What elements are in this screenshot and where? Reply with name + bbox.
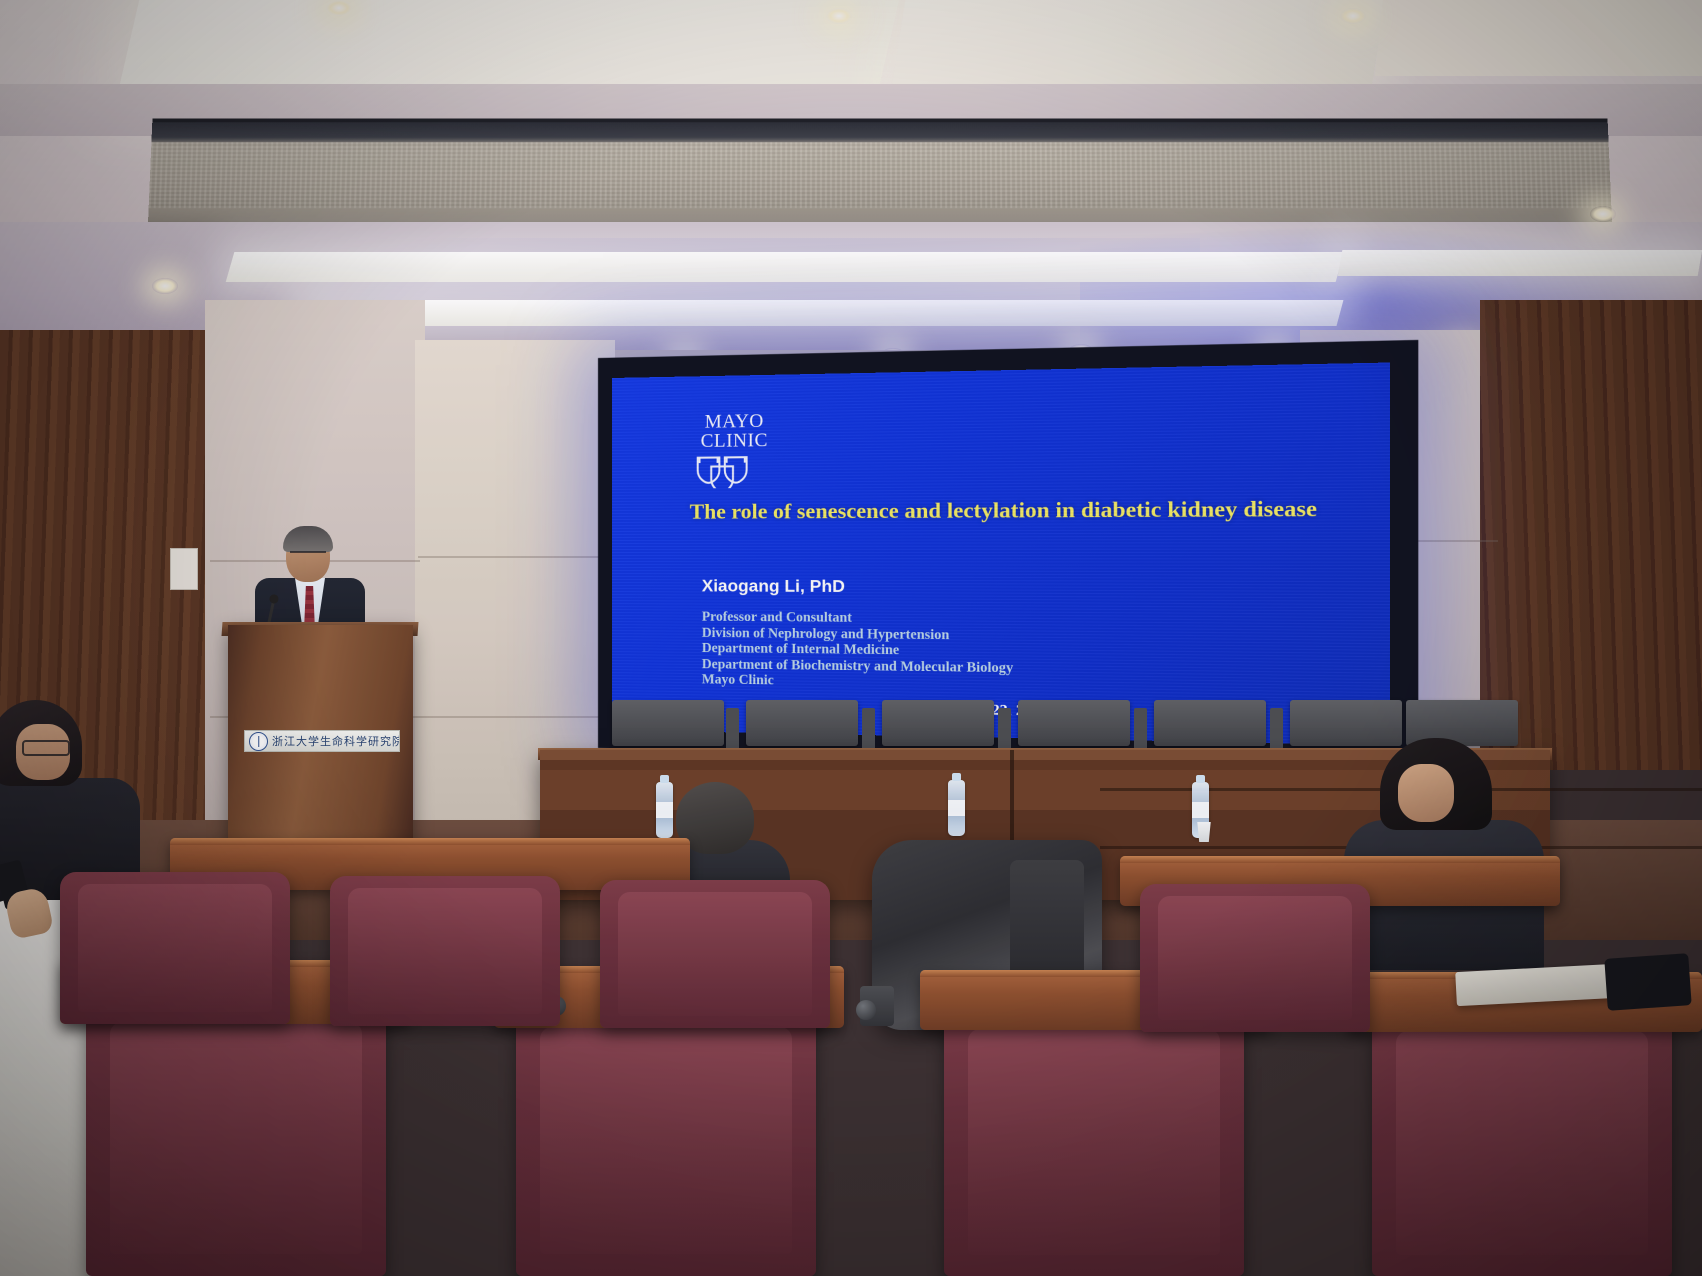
slide: MAYO CLINIC The role of senescence and l…: [612, 363, 1390, 746]
ceiling-light-panel: [1375, 0, 1702, 76]
ceiling-beam-grille: [148, 118, 1613, 234]
auditorium-seat[interactable]: [330, 876, 560, 1026]
auditorium-seat[interactable]: [60, 872, 290, 1024]
mayo-clinic-logo: MAYO CLINIC: [684, 411, 786, 493]
seat-cushion: [540, 1027, 792, 1255]
bottle-label: [656, 802, 673, 818]
lecture-hall-photo: MAYO CLINIC The role of senescence and l…: [0, 0, 1702, 1276]
seat-cushion: [1158, 896, 1351, 1020]
mayo-wordmark-line2: CLINIC: [684, 431, 786, 452]
wall-seam: [418, 556, 600, 558]
ceiling-light-strip: [1338, 250, 1702, 276]
ceiling-downlight: [1590, 206, 1616, 222]
dais-chair[interactable]: [1290, 700, 1402, 746]
dais-chair[interactable]: [746, 700, 858, 746]
affiliation-line: Department of Internal Medicine: [702, 640, 1013, 659]
auditorium-seat[interactable]: [944, 1008, 1244, 1276]
seat-cushion: [348, 888, 541, 1014]
ceiling-downlight: [1340, 8, 1366, 24]
bottle-label: [1192, 802, 1209, 818]
water-bottle[interactable]: [656, 782, 673, 838]
seat-pivot-knob[interactable]: [856, 1000, 876, 1020]
seat-cushion: [1396, 1031, 1648, 1254]
speaker-glasses: [290, 551, 326, 561]
auditorium-seat[interactable]: [600, 880, 830, 1028]
desk-edge: [1120, 856, 1560, 863]
mayo-clinic-shields-icon: [689, 453, 780, 488]
podium-name-plaque: 浙江大学生命科学研究院: [244, 730, 400, 752]
ceiling-downlight: [826, 8, 852, 24]
affiliation-line: Mayo Clinic: [702, 671, 1013, 691]
affiliation-line: Professor and Consultant: [702, 609, 1013, 627]
seat-cushion: [110, 1022, 362, 1254]
auditorium-seat[interactable]: [86, 1000, 386, 1276]
slide-title: The role of senescence and lectylation i…: [690, 496, 1337, 525]
plaque-text: 浙江大学生命科学研究院: [272, 733, 400, 749]
ceiling-light-strip: [297, 300, 1344, 326]
slide-presenter-name: Xiaogang Li, PhD: [702, 576, 845, 597]
presentation-screen[interactable]: MAYO CLINIC The role of senescence and l…: [612, 363, 1390, 746]
bottle-label: [948, 800, 965, 816]
auditorium-seat[interactable]: [1140, 884, 1370, 1032]
affiliation-line: Division of Nephrology and Hypertension: [702, 624, 1013, 643]
tablet-device[interactable]: [1604, 953, 1691, 1011]
dais-chair[interactable]: [1154, 700, 1266, 746]
grille-mesh: [149, 142, 1612, 208]
auditorium-seat[interactable]: [1372, 1010, 1672, 1276]
wall-switch-panel[interactable]: [170, 548, 198, 590]
seat-cushion: [618, 892, 811, 1016]
attendee-left-glasses: [22, 740, 70, 756]
ceiling-light-panel: [891, 0, 1389, 90]
seat-cushion: [968, 1029, 1220, 1254]
ceiling-downlight: [152, 278, 178, 294]
affiliation-line: Department of Biochemistry and Molecular…: [702, 656, 1013, 676]
attendee-right-face: [1398, 764, 1454, 822]
slide-affiliations: Professor and Consultant Division of Nep…: [702, 609, 1013, 692]
dais-chair[interactable]: [612, 700, 724, 746]
university-seal-icon: [249, 732, 268, 751]
seat-cushion: [78, 884, 271, 1012]
ceiling-light-strip: [226, 252, 1345, 282]
ceiling-downlight: [326, 0, 352, 16]
desk-edge: [170, 838, 690, 845]
water-bottle[interactable]: [948, 780, 965, 836]
dais-chair[interactable]: [1018, 700, 1130, 746]
dais-chair[interactable]: [882, 700, 994, 746]
auditorium-seat[interactable]: [516, 1005, 816, 1276]
mayo-wordmark-line1: MAYO: [684, 411, 786, 432]
